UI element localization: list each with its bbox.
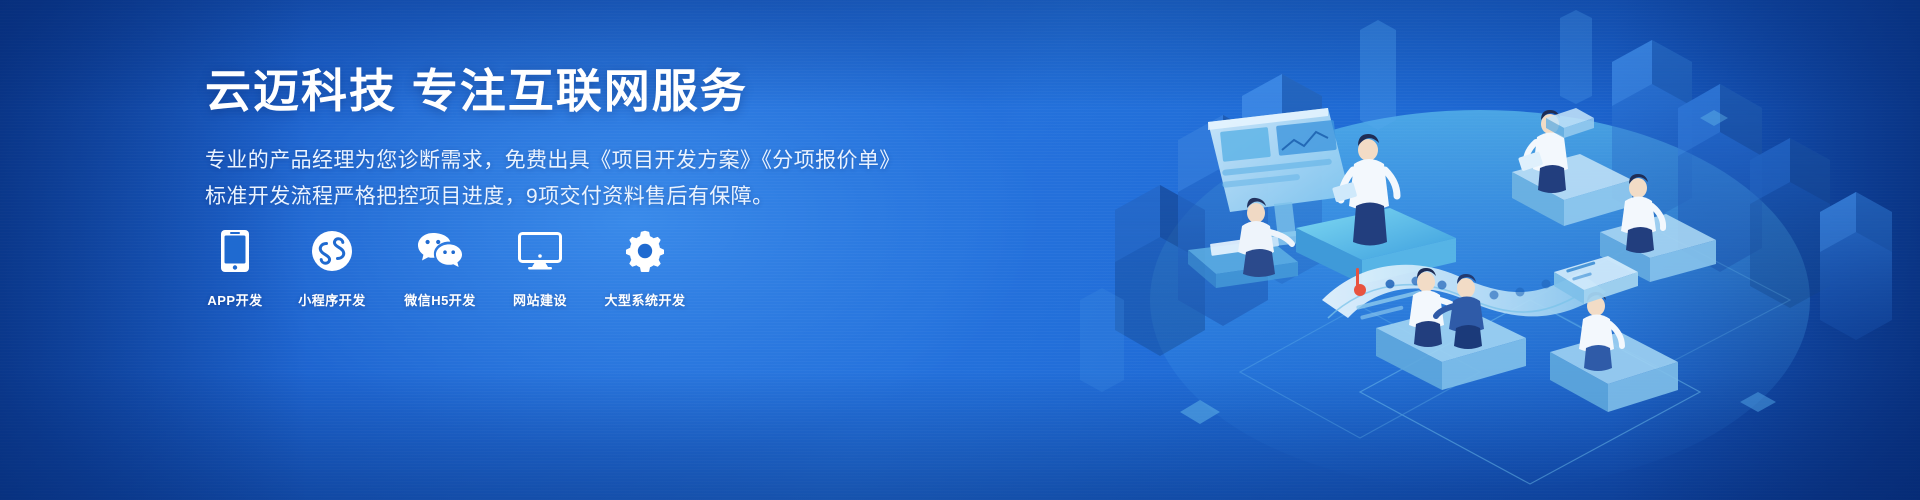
service-item-large-system[interactable]: 大型系统开发 [599, 228, 691, 309]
page-title: 云迈科技 专注互联网服务 [205, 62, 905, 121]
subtitle-line-2: 标准开发流程严格把控项目进度，9项交付资料售后有保障。 [205, 179, 905, 215]
wechat-icon [417, 228, 463, 274]
banner-subtitle: 专业的产品经理为您诊断需求，免费出具《项目开发方案》《分项报价单》 标准开发流程… [205, 143, 905, 215]
isometric-tech-illustration [1060, 0, 1920, 500]
service-list: APP开发 小程序开发 [205, 228, 691, 309]
service-label: APP开发 [207, 290, 262, 309]
service-label: 网站建设 [513, 290, 567, 309]
service-item-website[interactable]: 网站建设 [509, 228, 571, 309]
mobile-phone-icon [212, 228, 258, 274]
gear-icon [622, 228, 668, 274]
monitor-icon [517, 228, 563, 274]
subtitle-line-1: 专业的产品经理为您诊断需求，免费出具《项目开发方案》《分项报价单》 [205, 143, 905, 179]
service-item-wechat-h5[interactable]: 微信H5开发 [399, 228, 481, 309]
service-label: 微信H5开发 [404, 290, 476, 309]
hero-banner: 云迈科技 专注互联网服务 专业的产品经理为您诊断需求，免费出具《项目开发方案》《… [0, 0, 1920, 500]
service-item-mini-program[interactable]: 小程序开发 [293, 228, 371, 309]
service-label: 小程序开发 [298, 290, 366, 309]
service-item-app[interactable]: APP开发 [205, 228, 265, 309]
service-label: 大型系统开发 [604, 290, 685, 309]
banner-content: 云迈科技 专注互联网服务 专业的产品经理为您诊断需求，免费出具《项目开发方案》《… [205, 62, 905, 215]
mini-program-icon [309, 228, 355, 274]
